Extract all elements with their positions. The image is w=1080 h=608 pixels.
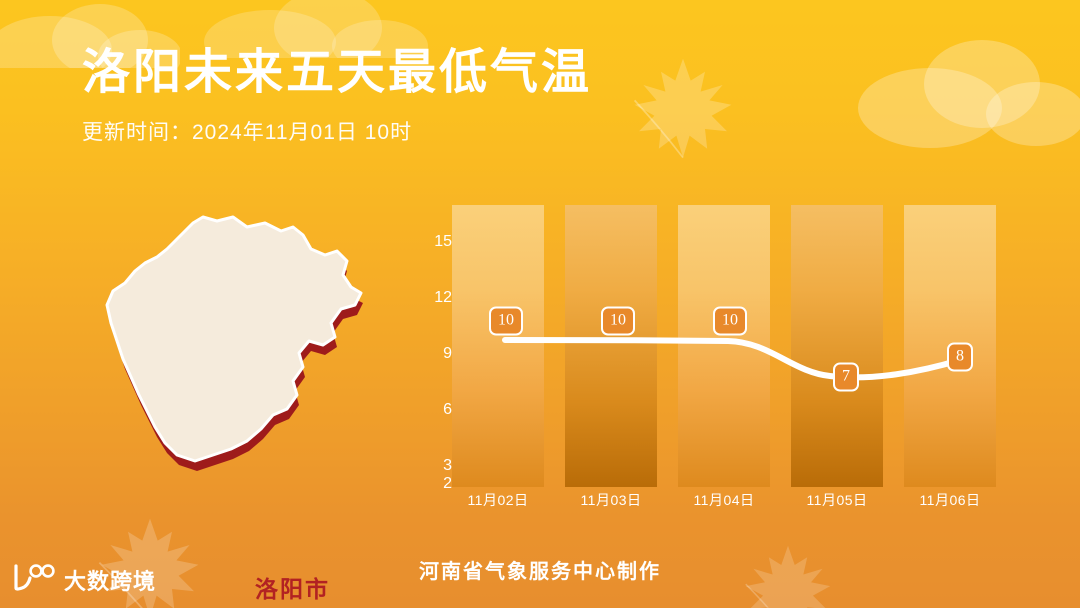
x-tick-label: 11月02日 bbox=[452, 490, 544, 510]
header: 洛阳未来五天最低气温 更新时间：2024年11月01日 10时 bbox=[82, 48, 592, 146]
update-time-text: 更新时间：2024年11月01日 10时 bbox=[82, 116, 592, 146]
maple-leaf-header-icon bbox=[628, 52, 738, 162]
page-title: 洛阳未来五天最低气温 bbox=[82, 48, 592, 98]
watermark-text: 大数跨境 bbox=[64, 564, 156, 596]
data-badge: 10 bbox=[489, 307, 523, 336]
cloud-top-right bbox=[840, 22, 1080, 152]
data-badge: 10 bbox=[713, 307, 747, 336]
dashu-kuajing-logo-icon bbox=[10, 562, 56, 597]
temperature-chart: 15 12 9 6 3 2 10 10 10 7 8 11月02日 11月03日… bbox=[410, 200, 1030, 500]
watermark: 大数跨境 bbox=[10, 562, 156, 597]
data-badge: 8 bbox=[947, 343, 973, 372]
luoyang-map: 洛阳市 bbox=[75, 215, 395, 505]
x-tick-label: 11月05日 bbox=[791, 490, 883, 510]
x-tick-label: 11月03日 bbox=[565, 490, 657, 510]
footer-credit: 河南省气象服务中心制作 bbox=[0, 555, 1080, 584]
x-tick-label: 11月04日 bbox=[678, 490, 770, 510]
temperature-line bbox=[410, 200, 1030, 500]
x-axis: 11月02日 11月03日 11月04日 11月05日 11月06日 bbox=[452, 490, 1030, 516]
data-badge: 7 bbox=[833, 363, 859, 392]
x-tick-label: 11月06日 bbox=[904, 490, 996, 510]
map-main-shape bbox=[107, 217, 361, 461]
data-badge: 10 bbox=[601, 307, 635, 336]
